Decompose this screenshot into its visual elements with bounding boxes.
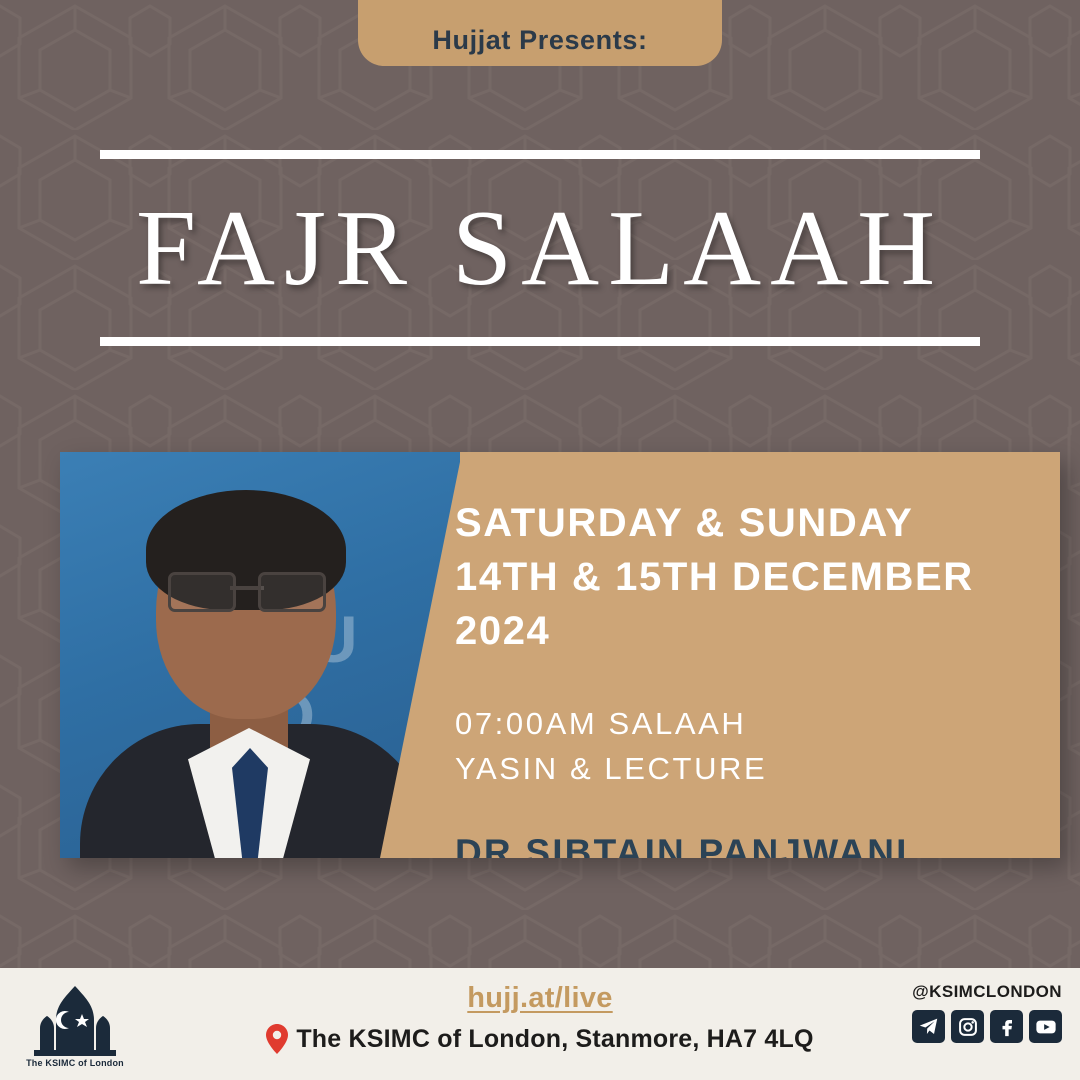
youtube-icon[interactable] [1029,1010,1062,1043]
footer: The KSIMC of London hujj.at/live The KSI… [0,968,1080,1080]
page-title: FAJR SALAAH [100,159,980,337]
event-speaker: DR SIBTAIN PANJWANI [455,832,1036,858]
event-date: 14TH & 15TH DECEMBER 2024 [455,550,1036,658]
logo-caption: The KSIMC of London [20,1058,130,1068]
social-icons [912,1010,1062,1043]
instagram-icon[interactable] [951,1010,984,1043]
event-days: SATURDAY & SUNDAY [455,496,1036,550]
glasses-icon [168,572,326,606]
event-card: A U CO SATURDAY & SUNDAY 14TH & 15TH DEC… [60,452,1060,858]
event-details-text: SATURDAY & SUNDAY 14TH & 15TH DECEMBER 2… [455,452,1036,858]
facebook-icon[interactable] [990,1010,1023,1043]
poster: Hujjat Presents: FAJR SALAAH A U CO SATU… [0,0,1080,1080]
event-time: 07:00AM SALAAH [455,702,1036,747]
socials: @KSIMCLONDON [912,982,1062,1043]
title-rule-top [100,150,980,159]
telegram-icon[interactable] [912,1010,945,1043]
venue-address: The KSIMC of London, Stanmore, HA7 4LQ [296,1025,813,1054]
social-handle: @KSIMCLONDON [912,982,1062,1002]
title-rule-bottom [100,337,980,346]
presents-label: Hujjat Presents: [432,25,647,56]
presents-banner: Hujjat Presents: [358,0,722,66]
event-time-group: 07:00AM SALAAH YASIN & LECTURE [455,702,1036,792]
event-program: YASIN & LECTURE [455,747,1036,792]
title-block: FAJR SALAAH [100,150,980,346]
location-pin-icon [266,1024,288,1054]
